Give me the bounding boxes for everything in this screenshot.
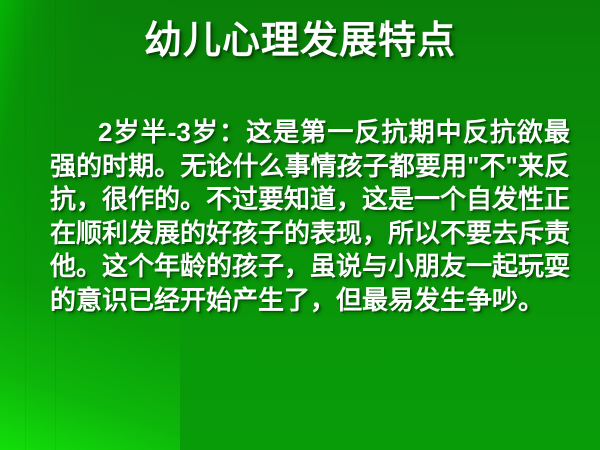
page-title: 幼儿心理发展特点 bbox=[144, 18, 456, 64]
slide-body-container: 2岁半-3岁：这是第一反抗期中反抗欲最强的时期。无论什么事情孩子都要用"不"来反… bbox=[50, 116, 570, 317]
slide-title-container: 幼儿心理发展特点 bbox=[0, 18, 600, 64]
slide-body-paragraph: 2岁半-3岁：这是第一反抗期中反抗欲最强的时期。无论什么事情孩子都要用"不"来反… bbox=[50, 116, 570, 317]
presentation-slide: 幼儿心理发展特点 2岁半-3岁：这是第一反抗期中反抗欲最强的时期。无论什么事情孩… bbox=[0, 0, 600, 450]
background-seam-left bbox=[25, 0, 26, 450]
